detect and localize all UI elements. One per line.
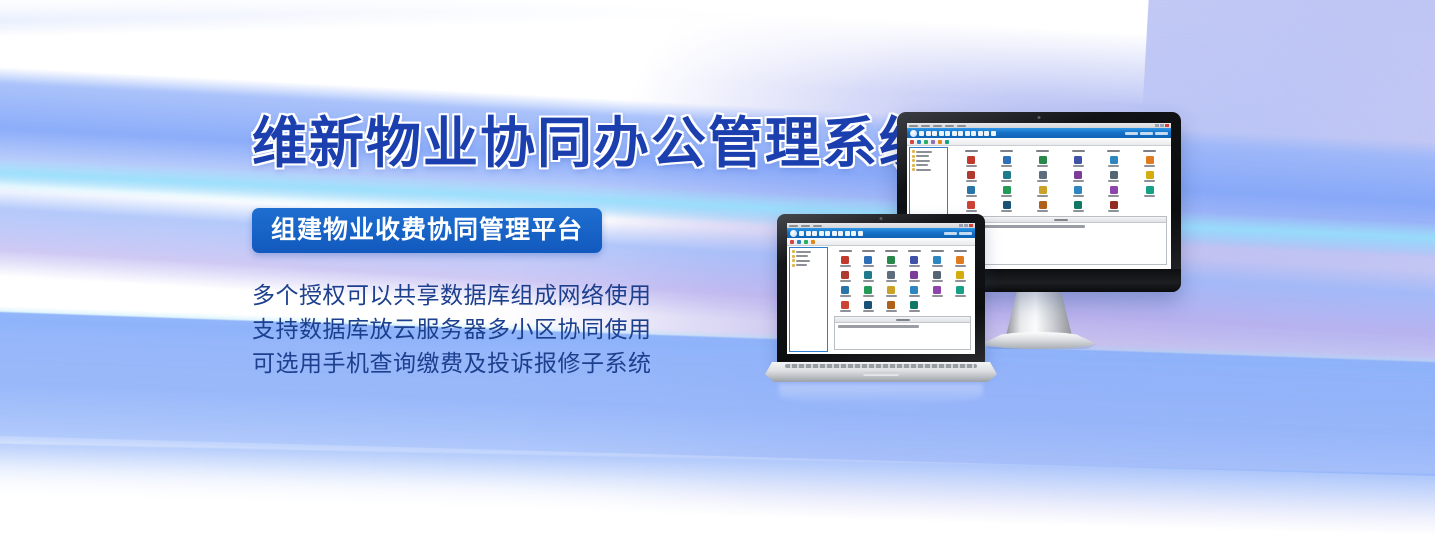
- module-button[interactable]: [812, 231, 817, 236]
- minimize-icon[interactable]: [1155, 124, 1159, 127]
- close-icon[interactable]: [969, 224, 973, 227]
- grid-column-header-label: [965, 150, 978, 152]
- module-icon-item[interactable]: [857, 254, 879, 268]
- module-icon: [887, 301, 895, 309]
- module-icon: [956, 256, 964, 264]
- module-icon: [887, 286, 895, 294]
- module-icon-label: [955, 265, 966, 267]
- module-icon-label: [1108, 180, 1119, 182]
- module-icon-label: [932, 265, 943, 267]
- tagline-badge: 组建物业收费协同管理平台: [252, 208, 602, 253]
- module-icon-label: [1001, 210, 1012, 212]
- grid-column-header: [903, 248, 925, 253]
- menu-item[interactable]: [909, 125, 918, 127]
- module-icon: [956, 271, 964, 279]
- module-icon-item[interactable]: [857, 299, 879, 313]
- header-link[interactable]: [1125, 132, 1138, 135]
- module-icon-label: [1144, 165, 1155, 167]
- module-icon-item[interactable]: [880, 299, 902, 313]
- module-icon-label: [1073, 165, 1084, 167]
- app-header-bar: [787, 228, 975, 238]
- module-icon-label: [1144, 195, 1155, 197]
- module-icon-label: [863, 295, 874, 297]
- tree-node[interactable]: [792, 255, 825, 258]
- menu-item[interactable]: [921, 125, 930, 127]
- grid-column-header-label: [954, 250, 967, 252]
- laptop-screen: [787, 223, 975, 354]
- toolbar-button-exit[interactable]: [945, 140, 949, 144]
- webcam-icon: [1038, 116, 1041, 119]
- module-icon: [910, 286, 918, 294]
- module-icon: [887, 271, 895, 279]
- module-icon: [841, 271, 849, 279]
- grid-column-header: [1061, 148, 1096, 153]
- app-logo-icon: [910, 130, 917, 137]
- module-icon-item[interactable]: [1061, 169, 1096, 183]
- menu-item[interactable]: [933, 125, 942, 127]
- menu-item[interactable]: [945, 125, 954, 127]
- module-icon-item[interactable]: [880, 284, 902, 298]
- header-link[interactable]: [944, 232, 957, 235]
- header-link[interactable]: [959, 232, 972, 235]
- module-icon-item[interactable]: [880, 254, 902, 268]
- grid-column-header: [857, 248, 879, 253]
- maximize-icon[interactable]: [964, 224, 968, 227]
- maximize-icon[interactable]: [1160, 124, 1164, 127]
- bottom-panel-row: [838, 325, 919, 328]
- module-button[interactable]: [838, 231, 843, 236]
- module-icon-item[interactable]: [1097, 199, 1132, 213]
- module-icon-item[interactable]: [990, 154, 1025, 168]
- module-icon-item[interactable]: [954, 199, 989, 213]
- tree-node[interactable]: [912, 155, 945, 158]
- module-icon: [841, 286, 849, 294]
- module-icon: [1039, 156, 1047, 164]
- module-button[interactable]: [851, 231, 856, 236]
- bottom-panel: [834, 316, 971, 350]
- module-button[interactable]: [799, 231, 804, 236]
- grid-column-header: [954, 148, 989, 153]
- module-button[interactable]: [939, 131, 944, 136]
- module-icon-label: [840, 310, 851, 312]
- grid-column-header-label: [1000, 150, 1013, 152]
- module-icon-label: [1073, 195, 1084, 197]
- module-icon-item[interactable]: [1061, 184, 1096, 198]
- module-icon-item[interactable]: [880, 269, 902, 283]
- module-icon-item[interactable]: [1097, 184, 1132, 198]
- module-icon: [887, 256, 895, 264]
- module-icon-label: [1001, 165, 1012, 167]
- module-button[interactable]: [952, 131, 957, 136]
- tree-node[interactable]: [792, 250, 825, 253]
- module-icon-label: [1037, 195, 1048, 197]
- module-icon-label: [886, 265, 897, 267]
- module-button[interactable]: [991, 131, 996, 136]
- module-icon: [1110, 171, 1118, 179]
- grid-column-header: [1025, 148, 1060, 153]
- module-icon-label: [966, 165, 977, 167]
- module-icon: [1110, 201, 1118, 209]
- module-icon-label: [909, 310, 920, 312]
- app-body: [787, 245, 975, 354]
- module-icon: [1074, 186, 1082, 194]
- module-button[interactable]: [858, 231, 863, 236]
- grid-column-header-label: [885, 250, 898, 252]
- module-icon: [864, 286, 872, 294]
- module-icon-label: [966, 210, 977, 212]
- module-icon-label: [840, 295, 851, 297]
- module-icon: [967, 201, 975, 209]
- module-button[interactable]: [926, 131, 931, 136]
- module-icon-label: [1144, 180, 1155, 182]
- laptop-trackpad[interactable]: [863, 372, 899, 376]
- module-icon-label: [1073, 210, 1084, 212]
- module-icon-label: [1108, 195, 1119, 197]
- module-icon-label: [1001, 180, 1012, 182]
- module-icon: [1074, 201, 1082, 209]
- toolbar-button-save[interactable]: [924, 140, 928, 144]
- grid-column-header: [949, 248, 971, 253]
- module-icon-label: [909, 280, 920, 282]
- module-icon-item[interactable]: [990, 169, 1025, 183]
- grid-column-header-label: [1143, 150, 1156, 152]
- module-icon: [967, 156, 975, 164]
- window-controls: [959, 224, 973, 227]
- laptop: [765, 214, 997, 389]
- module-button[interactable]: [965, 131, 970, 136]
- module-icon: [933, 271, 941, 279]
- module-icon: [841, 301, 849, 309]
- menu-item[interactable]: [957, 125, 966, 127]
- webcam-icon: [880, 217, 883, 220]
- tree-node[interactable]: [912, 168, 945, 171]
- app-module-buttons: [799, 231, 863, 236]
- module-icon-item[interactable]: [926, 269, 948, 283]
- grid-column-header-label: [1072, 150, 1085, 152]
- module-icon: [910, 301, 918, 309]
- module-icon-label: [863, 280, 874, 282]
- grid-column-header: [1132, 148, 1167, 153]
- grid-column-header-label: [908, 250, 921, 252]
- module-icon-label: [966, 195, 977, 197]
- toolbar-button-print[interactable]: [931, 140, 935, 144]
- module-icon-item[interactable]: [1025, 154, 1060, 168]
- toolbar-button-refresh[interactable]: [938, 140, 942, 144]
- menu-item[interactable]: [801, 225, 810, 227]
- module-icon-label: [1108, 210, 1119, 212]
- module-button[interactable]: [971, 131, 976, 136]
- module-button[interactable]: [958, 131, 963, 136]
- module-icon-item[interactable]: [1132, 154, 1167, 168]
- grid-column-header-label: [931, 250, 944, 252]
- module-icon-grid: [950, 145, 1171, 213]
- app-header-links: [1125, 132, 1168, 135]
- laptop-reflection: [779, 384, 983, 406]
- module-icon: [1146, 171, 1154, 179]
- module-icon-item[interactable]: [1132, 169, 1167, 183]
- grid-column-header-label: [862, 250, 875, 252]
- toolbar-button-open[interactable]: [797, 240, 801, 244]
- module-icon: [1003, 186, 1011, 194]
- module-button[interactable]: [984, 131, 989, 136]
- module-icon-label: [1037, 180, 1048, 182]
- window-controls: [1155, 124, 1169, 127]
- page-title: 维新物业协同办公管理系统: [252, 112, 892, 174]
- module-icon-label: [966, 180, 977, 182]
- module-icon-item[interactable]: [1061, 154, 1096, 168]
- grid-column-header: [926, 248, 948, 253]
- module-button[interactable]: [932, 131, 937, 136]
- module-icon-label: [909, 295, 920, 297]
- minimize-icon[interactable]: [959, 224, 963, 227]
- monitor-stand-neck: [1006, 292, 1072, 336]
- module-icon-label: [886, 295, 897, 297]
- module-button[interactable]: [819, 231, 824, 236]
- module-icon-label: [886, 310, 897, 312]
- module-icon-label: [1037, 165, 1048, 167]
- tree-node[interactable]: [792, 264, 825, 267]
- module-icon: [1003, 171, 1011, 179]
- grid-column-header: [1097, 148, 1132, 153]
- module-icon-item[interactable]: [926, 254, 948, 268]
- module-icon: [1110, 186, 1118, 194]
- app-header-links: [944, 232, 972, 235]
- module-icon-item[interactable]: [949, 269, 971, 283]
- module-icon-label: [955, 280, 966, 282]
- module-icon-item[interactable]: [1025, 184, 1060, 198]
- module-icon-item[interactable]: [990, 184, 1025, 198]
- toolbar-button-open[interactable]: [917, 140, 921, 144]
- module-icon-label: [932, 280, 943, 282]
- module-icon-item[interactable]: [903, 254, 925, 268]
- menu-item[interactable]: [789, 225, 798, 227]
- toolbar-button-new[interactable]: [910, 140, 914, 144]
- module-button[interactable]: [919, 131, 924, 136]
- grid-column-header: [880, 248, 902, 253]
- module-icon: [864, 301, 872, 309]
- module-icon: [1003, 201, 1011, 209]
- module-icon-item[interactable]: [1025, 199, 1060, 213]
- laptop-keyboard[interactable]: [785, 364, 977, 368]
- module-icon: [864, 256, 872, 264]
- module-icon-item[interactable]: [834, 284, 856, 298]
- grid-column-header: [990, 148, 1025, 153]
- app-header-bar: [907, 128, 1171, 138]
- grid-column-header: [834, 248, 856, 253]
- module-icon-item[interactable]: [1025, 169, 1060, 183]
- module-icon-label: [909, 265, 920, 267]
- header-link[interactable]: [1140, 132, 1153, 135]
- app-main-panel: [830, 245, 975, 354]
- module-icon: [1146, 186, 1154, 194]
- module-icon-item[interactable]: [1061, 199, 1096, 213]
- app-module-buttons: [919, 131, 996, 136]
- module-button[interactable]: [806, 231, 811, 236]
- app-window-laptop: [787, 223, 975, 354]
- module-icon-item[interactable]: [949, 284, 971, 298]
- module-icon-item[interactable]: [834, 299, 856, 313]
- module-icon: [1003, 156, 1011, 164]
- module-icon-item[interactable]: [1097, 169, 1132, 183]
- grid-column-header-label: [1107, 150, 1120, 152]
- module-button[interactable]: [945, 131, 950, 136]
- module-icon: [910, 271, 918, 279]
- module-icon: [933, 286, 941, 294]
- header-link[interactable]: [1155, 132, 1168, 135]
- bottom-panel-header: [835, 317, 970, 323]
- module-button[interactable]: [825, 231, 830, 236]
- module-icon-label: [1037, 210, 1048, 212]
- module-icon-item[interactable]: [949, 254, 971, 268]
- module-icon: [841, 256, 849, 264]
- module-icon-item[interactable]: [857, 269, 879, 283]
- module-icon-item[interactable]: [834, 254, 856, 268]
- tree-node[interactable]: [912, 164, 945, 167]
- tree-node[interactable]: [912, 159, 945, 162]
- module-icon-item[interactable]: [954, 184, 989, 198]
- module-icon-item[interactable]: [990, 199, 1025, 213]
- module-icon: [967, 171, 975, 179]
- module-icon-label: [886, 280, 897, 282]
- module-icon: [1039, 171, 1047, 179]
- module-icon: [1039, 201, 1047, 209]
- toolbar-button-save[interactable]: [804, 240, 808, 244]
- module-icon-label: [863, 310, 874, 312]
- module-icon-item[interactable]: [954, 154, 989, 168]
- module-icon-item[interactable]: [857, 284, 879, 298]
- tree-node[interactable]: [912, 150, 945, 153]
- toolbar-button-new[interactable]: [790, 240, 794, 244]
- module-icon-label: [932, 295, 943, 297]
- module-icon: [1146, 156, 1154, 164]
- close-icon[interactable]: [1165, 124, 1169, 127]
- module-icon: [1110, 156, 1118, 164]
- module-icon-grid: [830, 245, 975, 313]
- app-logo-icon: [790, 230, 797, 237]
- module-icon: [1074, 156, 1082, 164]
- module-icon-label: [1108, 165, 1119, 167]
- module-icon-label: [955, 295, 966, 297]
- module-icon: [956, 286, 964, 294]
- grid-column-header-label: [839, 250, 852, 252]
- grid-column-header-label: [1036, 150, 1049, 152]
- module-icon-item[interactable]: [903, 284, 925, 298]
- module-icon: [910, 256, 918, 264]
- toolbar-button-refresh[interactable]: [811, 240, 815, 244]
- module-icon: [933, 256, 941, 264]
- module-icon: [1074, 171, 1082, 179]
- navigation-tree[interactable]: [789, 247, 828, 352]
- module-icon-label: [840, 265, 851, 267]
- module-icon-label: [840, 280, 851, 282]
- module-icon-label: [1001, 195, 1012, 197]
- module-button[interactable]: [978, 131, 983, 136]
- module-icon: [967, 186, 975, 194]
- module-icon-item[interactable]: [954, 169, 989, 183]
- module-icon-item[interactable]: [834, 269, 856, 283]
- module-icon-item[interactable]: [926, 284, 948, 298]
- module-icon: [864, 271, 872, 279]
- module-button[interactable]: [845, 231, 850, 236]
- module-icon-label: [863, 265, 874, 267]
- module-icon-item[interactable]: [1132, 184, 1167, 198]
- module-icon-item[interactable]: [903, 299, 925, 313]
- module-icon-label: [1073, 180, 1084, 182]
- module-button[interactable]: [832, 231, 837, 236]
- module-icon-item[interactable]: [903, 269, 925, 283]
- module-icon-item[interactable]: [1097, 154, 1132, 168]
- module-icon: [1039, 186, 1047, 194]
- menu-item[interactable]: [813, 225, 822, 227]
- tree-node[interactable]: [792, 259, 825, 262]
- promo-banner: 维新物业协同办公管理系统 组建物业收费协同管理平台 多个授权可以共享数据库组成网…: [0, 0, 1435, 538]
